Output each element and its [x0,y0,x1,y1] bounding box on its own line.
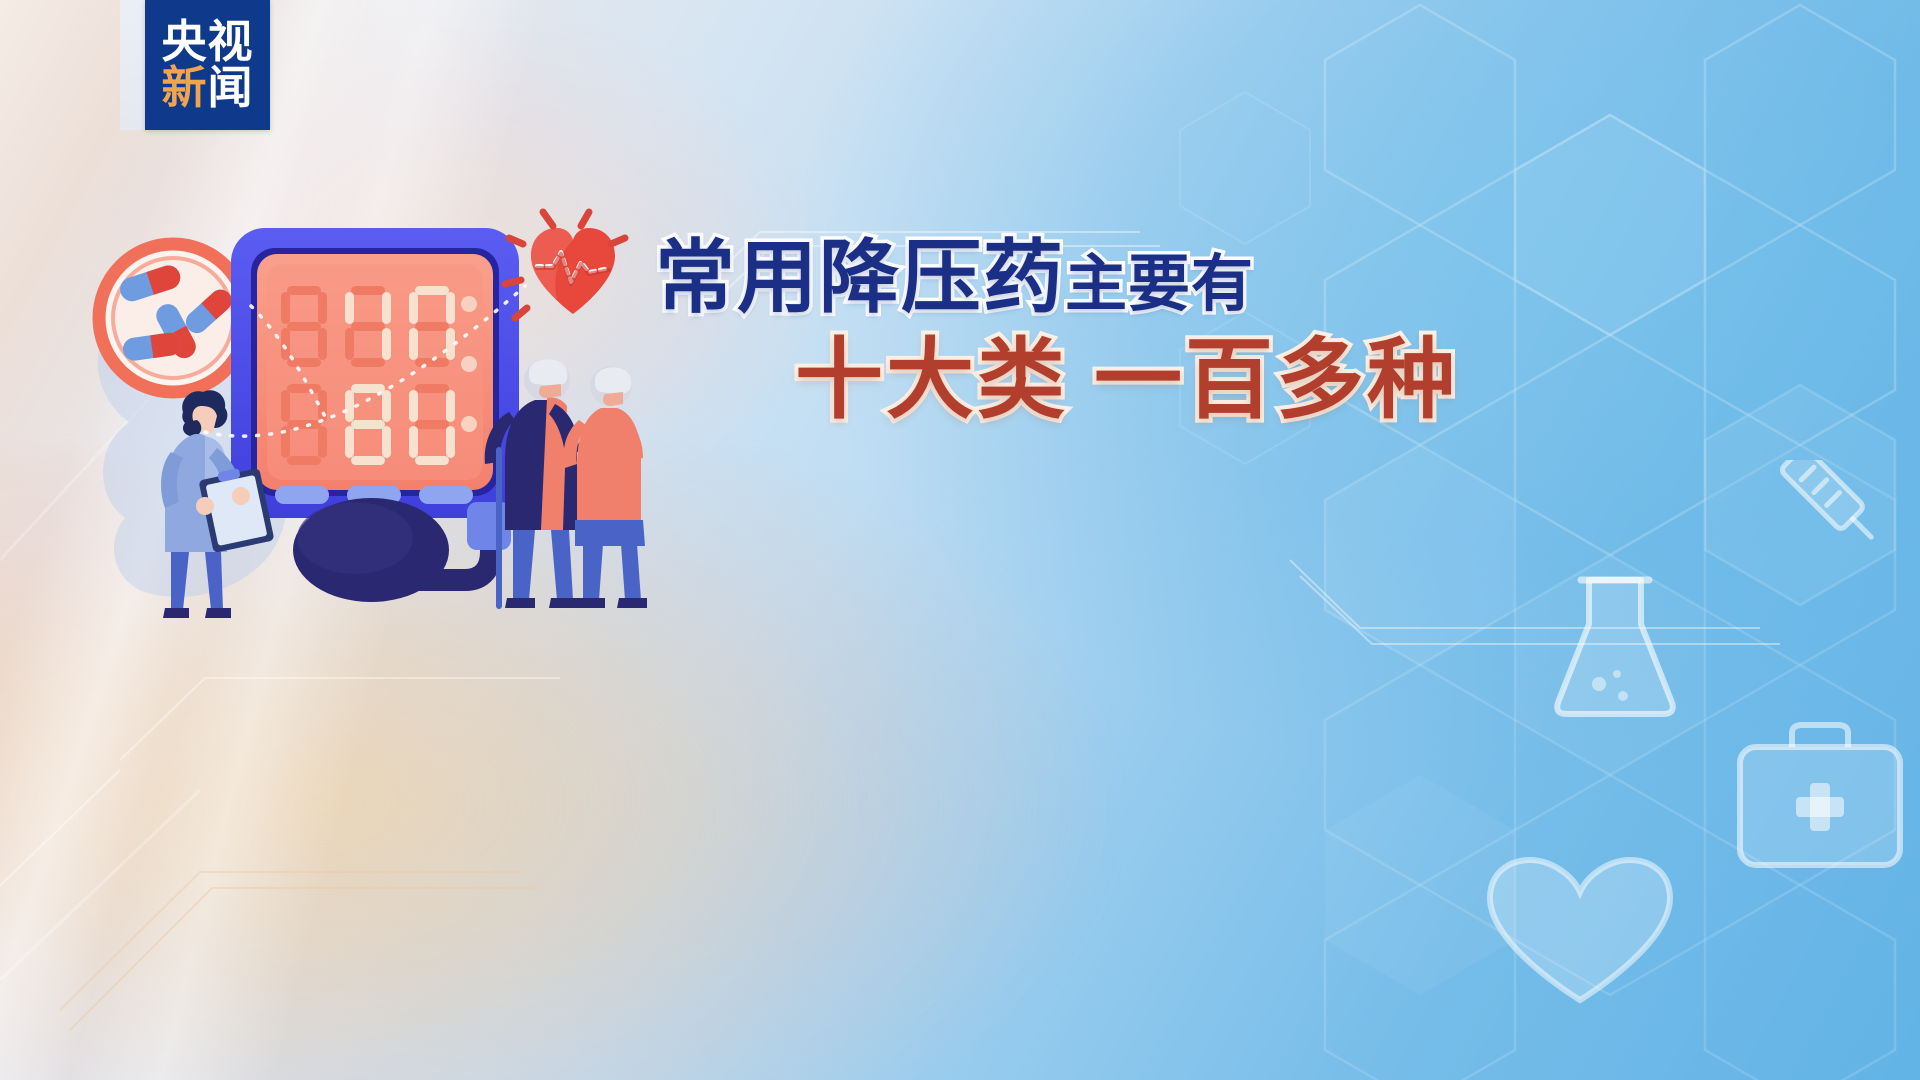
headline-line-2: 十大类一百多种 [795,336,1525,424]
headline-count-categories: 十大类 [795,328,1068,431]
logo-line-1: 央视 [161,20,253,64]
headline-count-varieties: 一百多种 [1094,328,1458,431]
screenshot-stage: 央视 新闻 [0,0,1920,1080]
heart-outline-icon [1490,860,1670,1000]
syringe-icon [1769,460,1884,549]
headline-tail: 主要有 [1065,253,1254,315]
headline-line-1: 常用降压药 主要有 [655,238,1525,318]
blood-pressure-illustration [55,200,695,660]
heartbeat-icon [505,212,625,318]
flask-icon [1557,580,1673,714]
cctv-news-logo[interactable]: 央视 新闻 [145,0,270,130]
decorative-medical-icons [1160,460,1920,1080]
logo-line-2: 新闻 [161,66,253,110]
medical-bag-icon [1740,725,1900,865]
logo-char-xin: 新 [161,61,207,114]
pill-circle-icon [99,244,247,392]
inflation-bulb [293,498,449,602]
logo-side-strip [120,0,145,130]
blood-pressure-monitor [231,228,519,518]
headline-block: 常用降压药 主要有 十大类一百多种 [655,238,1525,424]
headline-emphasis: 常用降压药 [655,238,1065,318]
logo-char-wen: 闻 [208,61,254,114]
